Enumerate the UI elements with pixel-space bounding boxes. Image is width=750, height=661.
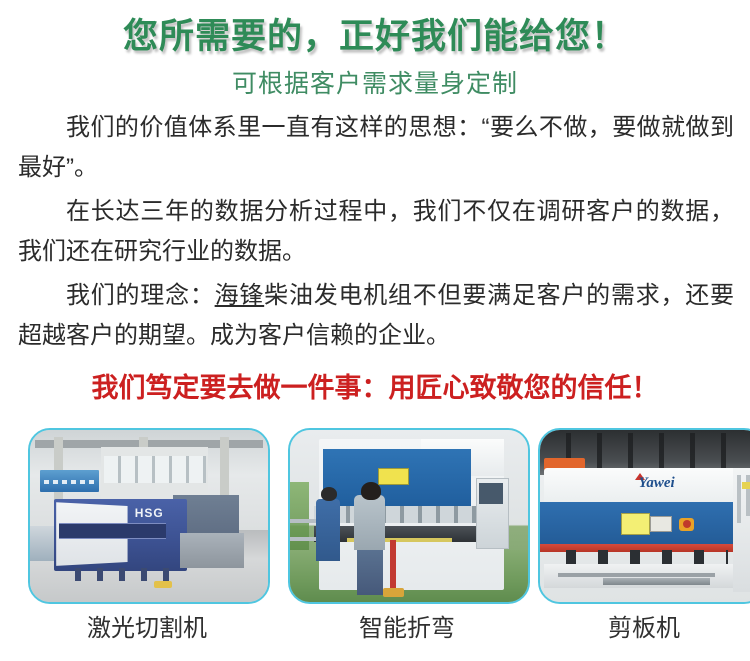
machine-brand-logo: Yawei — [639, 475, 675, 492]
paragraph-values: 我们的价值体系里一直有这样的思想：“要么不做，要做就做到最好”。 — [18, 108, 734, 188]
photo-frame: Yawei — [538, 428, 750, 604]
stand-base — [383, 588, 404, 597]
machine-window-strip — [59, 523, 166, 539]
banner-text-strip — [44, 480, 94, 484]
machine-brand-logo: HSG — [135, 506, 164, 520]
red-stand-post — [390, 540, 396, 592]
photo-frame: HSG — [28, 428, 270, 604]
support-arm — [603, 578, 711, 585]
hold-down-clamps — [544, 550, 728, 564]
philosophy-prefix: 我们的理念： — [66, 282, 215, 309]
red-statement: 我们笃定要去做一件事：用匠心致敬您的信任！ — [0, 366, 750, 405]
gallery-card-laser-cutter[interactable]: HSG 激光切割机 — [28, 428, 266, 600]
hydraulic-hose-a — [737, 475, 741, 523]
paragraph-data-analysis: 在长达三年的数据分析过程中，我们不仅在调研客户的数据，我们还在研究行业的数据。 — [18, 192, 734, 272]
warning-placard — [621, 513, 650, 536]
worker-blue-shirt-head — [321, 487, 337, 501]
worker-blue-shirt-body — [316, 499, 340, 561]
machine-gallery: HSG 激光切割机 — [0, 428, 750, 661]
spec-placard — [650, 516, 672, 532]
cnc-press-brake-with-workers-photo — [290, 430, 528, 602]
window-row — [104, 456, 206, 484]
worker-grey-shirt-head — [361, 482, 381, 500]
machine-side-table — [180, 533, 244, 567]
control-screen — [479, 483, 503, 504]
gallery-caption-press-brake: 智能折弯 — [288, 608, 526, 643]
safety-label — [378, 468, 409, 485]
hydraulic-shearing-machine-photo: Yawei — [540, 430, 750, 602]
brand-name: 海锋 — [215, 282, 265, 309]
worker-grey-shirt-legs — [357, 547, 383, 595]
gallery-card-press-brake[interactable]: 智能折弯 — [288, 428, 526, 600]
table-slot — [558, 573, 715, 577]
page-headline: 您所需要的，正好我们能给您！ — [0, 8, 750, 59]
gallery-card-shearing-machine[interactable]: Yawei 剪板机 — [538, 428, 750, 600]
body-copy: 我们的价值体系里一直有这样的思想：“要么不做，要做就做到最好”。 在长达三年的数… — [18, 108, 734, 360]
photo-frame — [288, 428, 530, 604]
paragraph-philosophy: 我们的理念：海锋柴油发电机组不但要满足客户的需求，还要超越客户的期望。成为客户信… — [18, 276, 734, 356]
page-subheadline: 可根据客户需求量身定制 — [0, 64, 750, 100]
laser-cutting-machine-photo: HSG — [30, 430, 268, 602]
promo-page: 您所需要的，正好我们能给您！ 可根据客户需求量身定制 我们的价值体系里一直有这样… — [0, 0, 750, 661]
gallery-caption-laser-cutter: 激光切割机 — [28, 608, 266, 643]
floor-marker — [154, 581, 172, 588]
yellow-tag — [742, 482, 750, 489]
machine-legs — [59, 568, 183, 582]
gallery-caption-shearing-machine: 剪板机 — [538, 608, 750, 643]
worker-grey-shirt-body — [354, 495, 385, 550]
